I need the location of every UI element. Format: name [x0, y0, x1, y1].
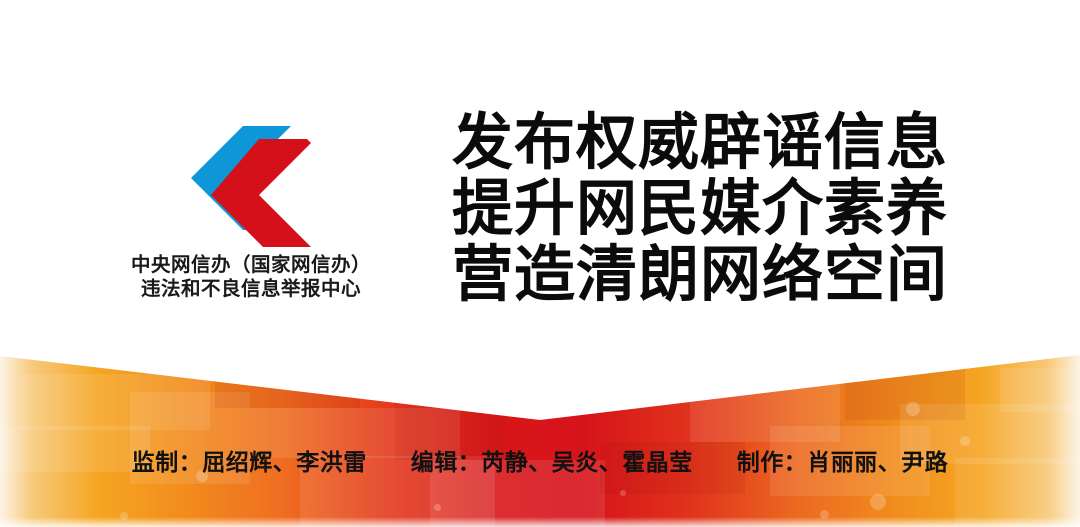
headline-line-1: 发布权威辟谣信息	[452, 110, 972, 176]
banner-dot	[434, 504, 441, 511]
banner-plate	[215, 368, 360, 408]
banner-plate	[0, 426, 150, 472]
banner-dot	[870, 494, 886, 510]
credit-editor: 编辑：芮静、吴炎、霍晶莹	[411, 443, 693, 477]
credits-bar: 监制：屈绍辉、李洪雷 编辑：芮静、吴炎、霍晶莹 制作：肖丽丽、尹路	[0, 440, 1080, 480]
credit-designer: 制作：肖丽丽、尹路	[737, 443, 949, 477]
headline-block: 发布权威辟谣信息 提升网民媒介素养 营造清朗网络空间	[452, 110, 972, 308]
poster-root: 中央网信办（国家网信办） 违法和不良信息举报中心 发布权威辟谣信息 提升网民媒介…	[0, 0, 1080, 527]
bottom-gradient-banner	[0, 352, 1080, 527]
banner-bottom-fade	[0, 517, 1080, 527]
credit-producer: 监制：屈绍辉、李洪雷	[132, 443, 367, 477]
logo-caption: 中央网信办（国家网信办） 违法和不良信息举报中心	[96, 253, 406, 301]
banner-dot	[960, 436, 970, 446]
logo-caption-line1: 中央网信办（国家网信办）	[96, 253, 406, 277]
top-content-area: 中央网信办（国家网信办） 违法和不良信息举报中心 发布权威辟谣信息 提升网民媒介…	[0, 0, 1080, 356]
logo-block: 中央网信办（国家网信办） 违法和不良信息举报中心	[96, 122, 406, 322]
banner-plate	[1000, 368, 1080, 412]
cac-logo-icon	[96, 122, 406, 247]
headline-line-3: 营造清朗网络空间	[452, 242, 972, 308]
logo-caption-line2: 违法和不良信息举报中心	[96, 277, 406, 301]
banner-dot	[906, 402, 920, 416]
headline-line-2: 提升网民媒介素养	[452, 176, 972, 242]
banner-dot	[620, 490, 626, 496]
